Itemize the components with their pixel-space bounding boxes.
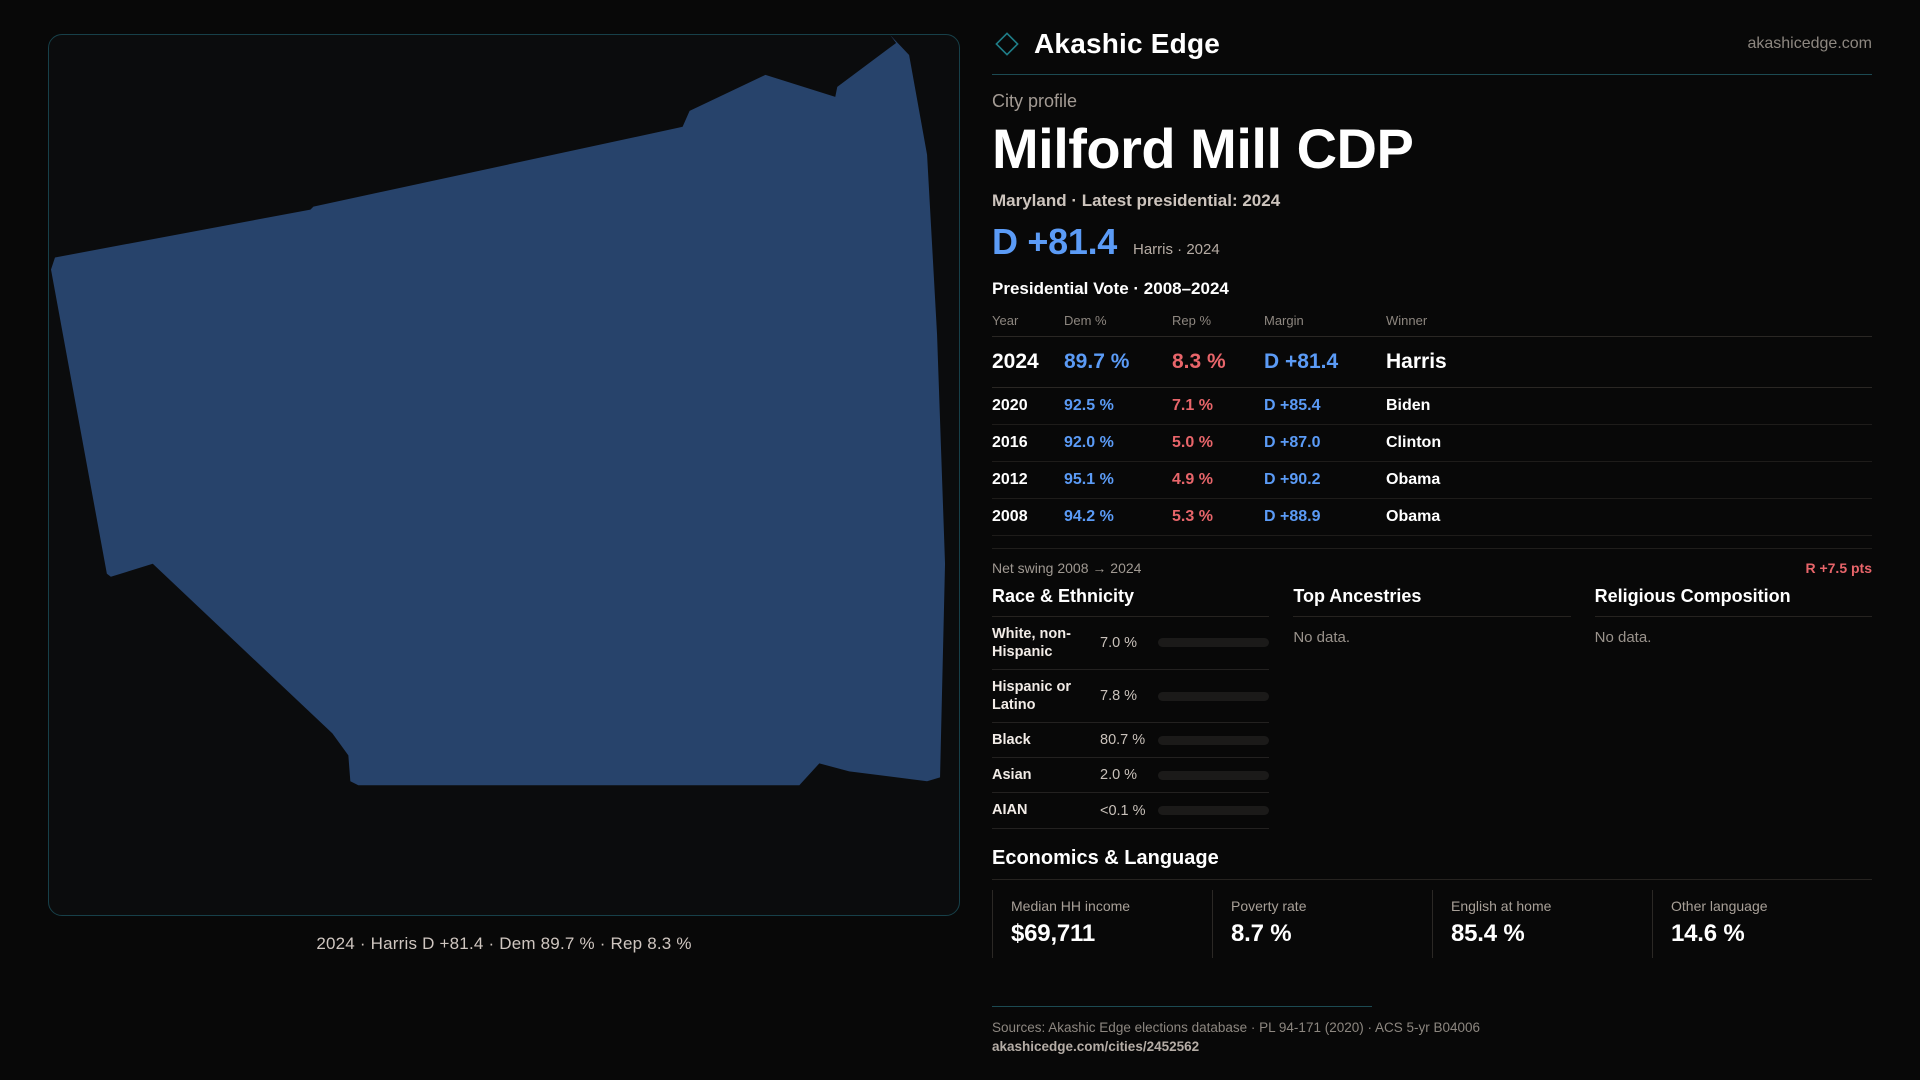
cell-winner: Obama — [1386, 498, 1872, 535]
race-bar-track — [1158, 771, 1269, 780]
net-swing-label: Net swing 2008 → 2024 — [992, 560, 1141, 576]
stat-label: Median HH income — [1011, 898, 1212, 914]
cell-dem: 94.2 % — [1064, 498, 1172, 535]
race-ethnicity-title: Race & Ethnicity — [992, 586, 1269, 616]
race-bar-track — [1158, 638, 1269, 647]
race-row: AIAN <0.1 % — [992, 793, 1269, 828]
net-swing-row: Net swing 2008 → 2024 R +7.5 pts — [992, 548, 1872, 576]
column-header-rep: Rep % — [1172, 307, 1264, 337]
cell-rep: 8.3 % — [1172, 336, 1264, 387]
race-bar-track — [1158, 806, 1269, 815]
race-value: 80.7 % — [1100, 732, 1158, 748]
race-label: Hispanic or Latino — [992, 678, 1100, 714]
economics-grid: Median HH income $69,711 Poverty rate 8.… — [992, 890, 1872, 958]
race-row: Black 80.7 % — [992, 723, 1269, 758]
race-ethnicity-section: Race & Ethnicity White, non-Hispanic 7.0… — [992, 586, 1269, 829]
column-header-margin: Margin — [1264, 307, 1386, 337]
economics-title: Economics & Language — [992, 847, 1872, 870]
table-row[interactable]: 2008 94.2 % 5.3 % D +88.9 Obama — [992, 498, 1872, 535]
cell-dem: 92.5 % — [1064, 387, 1172, 424]
race-value: 2.0 % — [1100, 767, 1158, 783]
map-column: 2024 · Harris D +81.4 · Dem 89.7 % · Rep… — [0, 0, 960, 1080]
religious-composition-empty: No data. — [1595, 617, 1872, 646]
city-boundary-shape — [51, 35, 945, 785]
cell-margin: D +81.4 — [1264, 336, 1386, 387]
cell-dem: 92.0 % — [1064, 424, 1172, 461]
stat-cell-other-language: Other language 14.6 % — [1652, 890, 1872, 958]
race-label: White, non-Hispanic — [992, 625, 1100, 661]
cell-year: 2008 — [992, 498, 1064, 535]
cell-rep: 7.1 % — [1172, 387, 1264, 424]
stat-label: Other language — [1671, 898, 1872, 914]
page-title: Milford Mill CDP — [992, 118, 1872, 181]
demographics-grid: Race & Ethnicity White, non-Hispanic 7.0… — [992, 586, 1872, 829]
table-row[interactable]: 2016 92.0 % 5.0 % D +87.0 Clinton — [992, 424, 1872, 461]
brand-bar: Akashic Edge akashicedge.com — [992, 28, 1872, 75]
cell-rep: 5.0 % — [1172, 424, 1264, 461]
stat-value: 14.6 % — [1671, 920, 1872, 948]
divider — [992, 1006, 1372, 1007]
stat-cell-poverty-rate: Poverty rate 8.7 % — [1212, 890, 1432, 958]
column-header-year: Year — [992, 307, 1064, 337]
race-row: White, non-Hispanic 7.0 % — [992, 617, 1269, 670]
religious-composition-section: Religious Composition No data. — [1595, 586, 1872, 829]
religious-composition-title: Religious Composition — [1595, 586, 1872, 616]
cell-rep: 5.3 % — [1172, 498, 1264, 535]
race-label: AIAN — [992, 801, 1100, 819]
divider — [992, 879, 1872, 880]
headline-margin: D +81.4 Harris · 2024 — [992, 221, 1872, 263]
brand-url[interactable]: akashicedge.com — [1747, 35, 1872, 53]
net-swing-badge: R +7.5 pts — [1805, 560, 1872, 576]
table-row[interactable]: 2020 92.5 % 7.1 % D +85.4 Biden — [992, 387, 1872, 424]
city-boundary-map — [49, 35, 959, 915]
footer-url[interactable]: akashicedge.com/cities/2452562 — [992, 1039, 1872, 1054]
top-ancestries-empty: No data. — [1293, 617, 1570, 646]
cell-year: 2020 — [992, 387, 1064, 424]
cell-winner: Biden — [1386, 387, 1872, 424]
race-value: <0.1 % — [1100, 803, 1158, 819]
stat-label: Poverty rate — [1231, 898, 1432, 914]
profile-column: Akashic Edge akashicedge.com City profil… — [960, 0, 1920, 1080]
stat-value: 8.7 % — [1231, 920, 1432, 948]
column-header-winner: Winner — [1386, 307, 1872, 337]
cell-dem: 95.1 % — [1064, 461, 1172, 498]
race-bar-track — [1158, 692, 1269, 701]
race-value: 7.8 % — [1100, 688, 1158, 704]
cell-dem: 89.7 % — [1064, 336, 1172, 387]
diamond-icon — [992, 29, 1022, 59]
race-bar-track — [1158, 736, 1269, 745]
top-ancestries-section: Top Ancestries No data. — [1293, 586, 1570, 829]
stat-cell-median-hh-income: Median HH income $69,711 — [992, 890, 1212, 958]
race-value: 7.0 % — [1100, 635, 1158, 651]
race-row: Asian 2.0 % — [992, 758, 1269, 793]
map-panel[interactable] — [48, 34, 960, 916]
table-header-row: Year Dem % Rep % Margin Winner — [992, 307, 1872, 337]
cell-winner: Obama — [1386, 461, 1872, 498]
presidential-vote-table: Year Dem % Rep % Margin Winner 2024 89.7… — [992, 307, 1872, 536]
race-row: Hispanic or Latino 7.8 % — [992, 670, 1269, 723]
vote-table-title: Presidential Vote · 2008–2024 — [992, 279, 1872, 299]
table-row[interactable]: 2024 89.7 % 8.3 % D +81.4 Harris — [992, 336, 1872, 387]
cell-year: 2024 — [992, 336, 1064, 387]
headline-margin-caption: Harris · 2024 — [1133, 241, 1220, 258]
race-label: Black — [992, 731, 1100, 749]
cell-margin: D +90.2 — [1264, 461, 1386, 498]
cell-year: 2012 — [992, 461, 1064, 498]
column-header-dem: Dem % — [1064, 307, 1172, 337]
cell-margin: D +88.9 — [1264, 498, 1386, 535]
cell-winner: Clinton — [1386, 424, 1872, 461]
stat-cell-english-at-home: English at home 85.4 % — [1432, 890, 1652, 958]
stat-value: $69,711 — [1011, 920, 1212, 948]
headline-margin-value: D +81.4 — [992, 221, 1117, 263]
cell-rep: 4.9 % — [1172, 461, 1264, 498]
city-profile-page: 2024 · Harris D +81.4 · Dem 89.7 % · Rep… — [0, 0, 1920, 1080]
cell-year: 2016 — [992, 424, 1064, 461]
stat-label: English at home — [1451, 898, 1652, 914]
page-subtitle: Maryland · Latest presidential: 2024 — [992, 191, 1872, 211]
stat-value: 85.4 % — [1451, 920, 1652, 948]
brand-name: Akashic Edge — [1034, 28, 1220, 60]
race-label: Asian — [992, 766, 1100, 784]
cell-winner: Harris — [1386, 336, 1872, 387]
map-caption: 2024 · Harris D +81.4 · Dem 89.7 % · Rep… — [48, 934, 960, 954]
cell-margin: D +87.0 — [1264, 424, 1386, 461]
top-ancestries-title: Top Ancestries — [1293, 586, 1570, 616]
page-kicker: City profile — [992, 91, 1872, 112]
footer: Sources: Akashic Edge elections database… — [992, 1006, 1872, 1054]
table-row[interactable]: 2012 95.1 % 4.9 % D +90.2 Obama — [992, 461, 1872, 498]
cell-margin: D +85.4 — [1264, 387, 1386, 424]
footer-sources: Sources: Akashic Edge elections database… — [992, 1017, 1872, 1039]
